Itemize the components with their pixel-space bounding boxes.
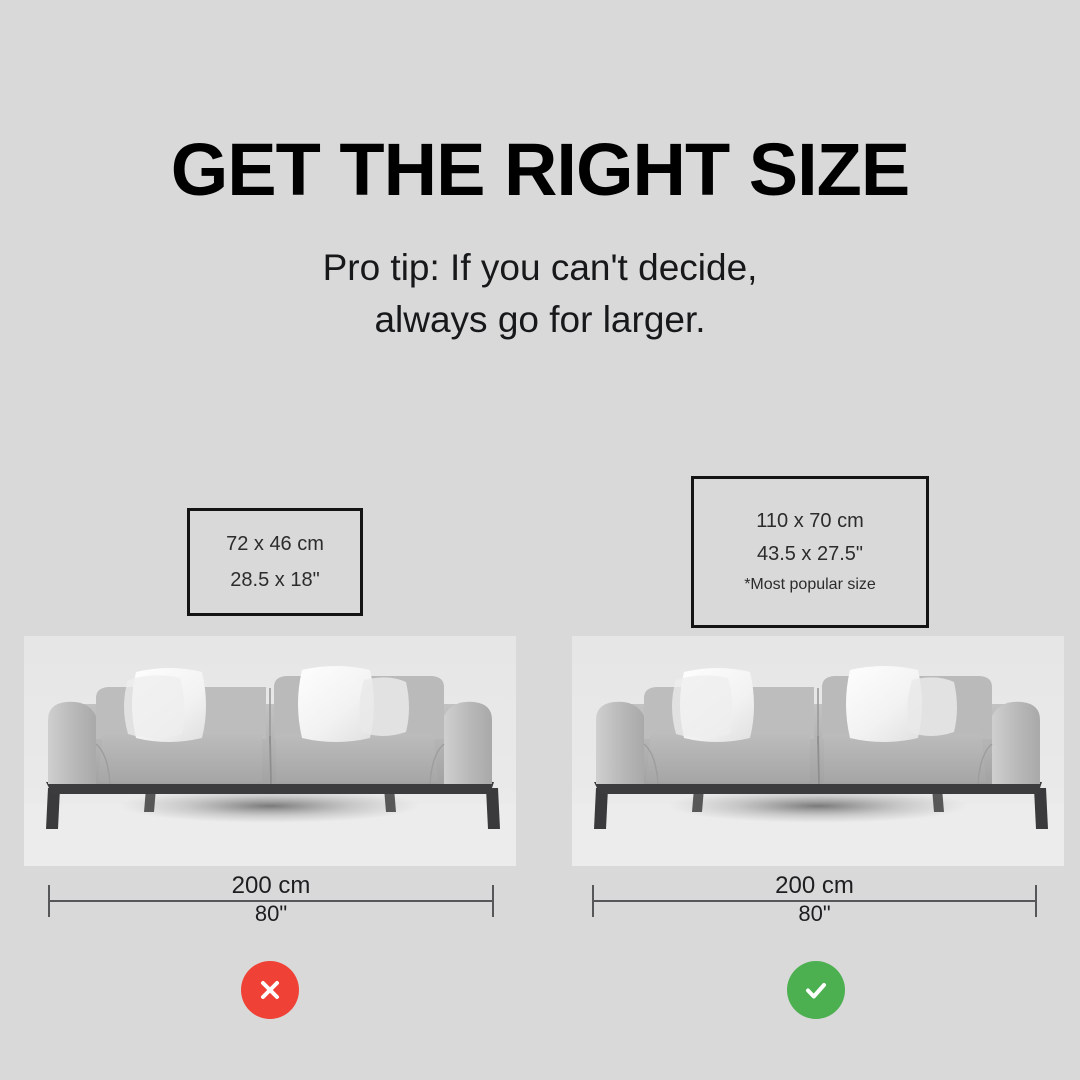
art-frame-large: 110 x 70 cm 43.5 x 27.5" *Most popular s…: [691, 476, 929, 628]
width-ruler-left: 200 cm 80": [48, 877, 494, 923]
ruler-label-imperial: 80": [48, 901, 494, 927]
art-frame-small: 72 x 46 cm 28.5 x 18": [187, 508, 363, 616]
verdict-badge-correct: [787, 961, 845, 1019]
check-icon: [800, 974, 832, 1006]
sofa-illustration-right: [572, 636, 1064, 866]
sofa-illustration-left: [24, 636, 516, 866]
comparison-column-too-small: 72 x 46 cm 28.5 x 18": [0, 0, 540, 1080]
width-ruler-right: 200 cm 80": [592, 877, 1037, 923]
frame-size-imperial: 28.5 x 18": [230, 562, 319, 598]
ruler-label-metric: 200 cm: [48, 873, 494, 899]
frame-size-imperial: 43.5 x 27.5": [757, 538, 863, 571]
verdict-badge-incorrect: [241, 961, 299, 1019]
cross-icon: [255, 975, 285, 1005]
frame-size-metric: 72 x 46 cm: [226, 526, 324, 562]
size-guide-graphic: GET THE RIGHT SIZE Pro tip: If you can't…: [0, 0, 1080, 1080]
frame-size-metric: 110 x 70 cm: [756, 505, 863, 538]
ruler-label-imperial: 80": [592, 901, 1037, 927]
frame-popularity-note: *Most popular size: [744, 571, 876, 599]
comparison-column-most-popular: 110 x 70 cm 43.5 x 27.5" *Most popular s…: [540, 0, 1080, 1080]
ruler-label-metric: 200 cm: [592, 873, 1037, 899]
